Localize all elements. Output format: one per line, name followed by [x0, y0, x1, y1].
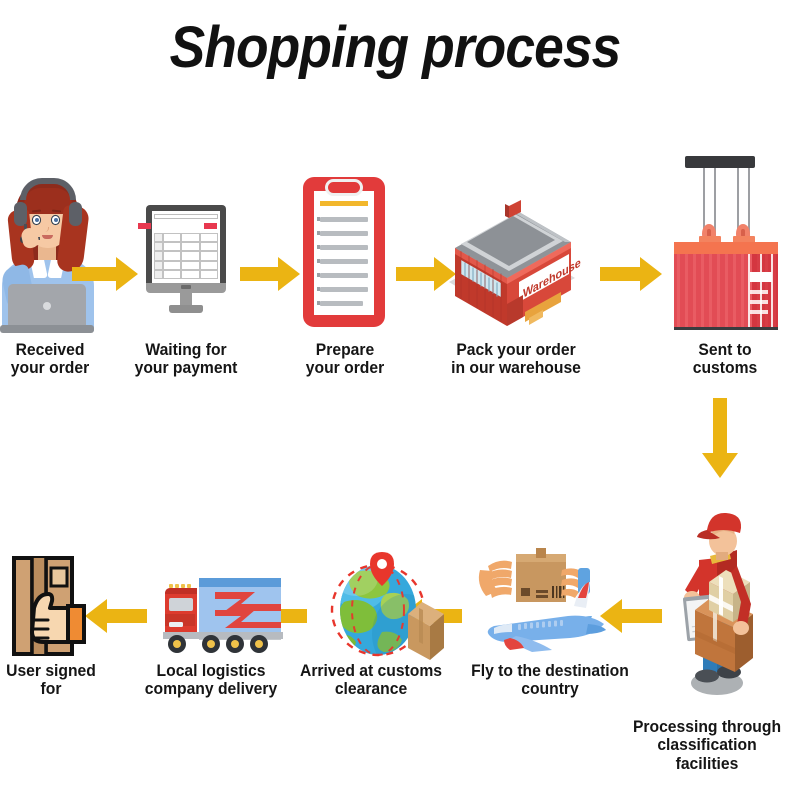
step-6-label: Processing through classification facili…: [628, 718, 786, 773]
step-3-label: Prepare your order: [279, 341, 412, 378]
warehouse-building-icon: Warehouse: [443, 186, 583, 332]
delivery-truck-icon: [155, 570, 285, 660]
step-8-label: Arrived at customs clearance: [281, 662, 462, 699]
hand-signed-parcel-icon: [8, 552, 102, 660]
page-title: Shopping process: [32, 14, 759, 81]
delivery-worker-icon: [655, 486, 775, 701]
arrow-step-2-to-3: [240, 256, 300, 292]
globe-customs-icon: [320, 548, 450, 668]
arrow-step-4-to-5: [600, 256, 662, 292]
arrow-step-1-to-2: [72, 256, 138, 292]
customer-service-agent-icon: [0, 172, 96, 332]
step-2-label: Waiting for your payment: [117, 341, 256, 378]
step-1-label: Received your order: [0, 341, 113, 378]
clipboard-checklist-icon: [303, 177, 389, 329]
step-9-label: Local logistics company delivery: [123, 662, 300, 699]
airplane-parcel-icon: [470, 540, 630, 670]
step-4-label: Pack your order in our warehouse: [440, 341, 592, 378]
monitor-spreadsheet-icon: [138, 205, 234, 325]
step-7-label: Fly to the destination country: [458, 662, 642, 699]
shopping-process-diagram: Shopping process Received your order: [0, 0, 790, 790]
step-10-label: User signed for: [0, 662, 113, 699]
step-5-label: Sent to customs: [665, 341, 785, 378]
shipping-container-crane-icon: [661, 156, 790, 334]
arrow-step-5-to-6: [700, 398, 740, 480]
